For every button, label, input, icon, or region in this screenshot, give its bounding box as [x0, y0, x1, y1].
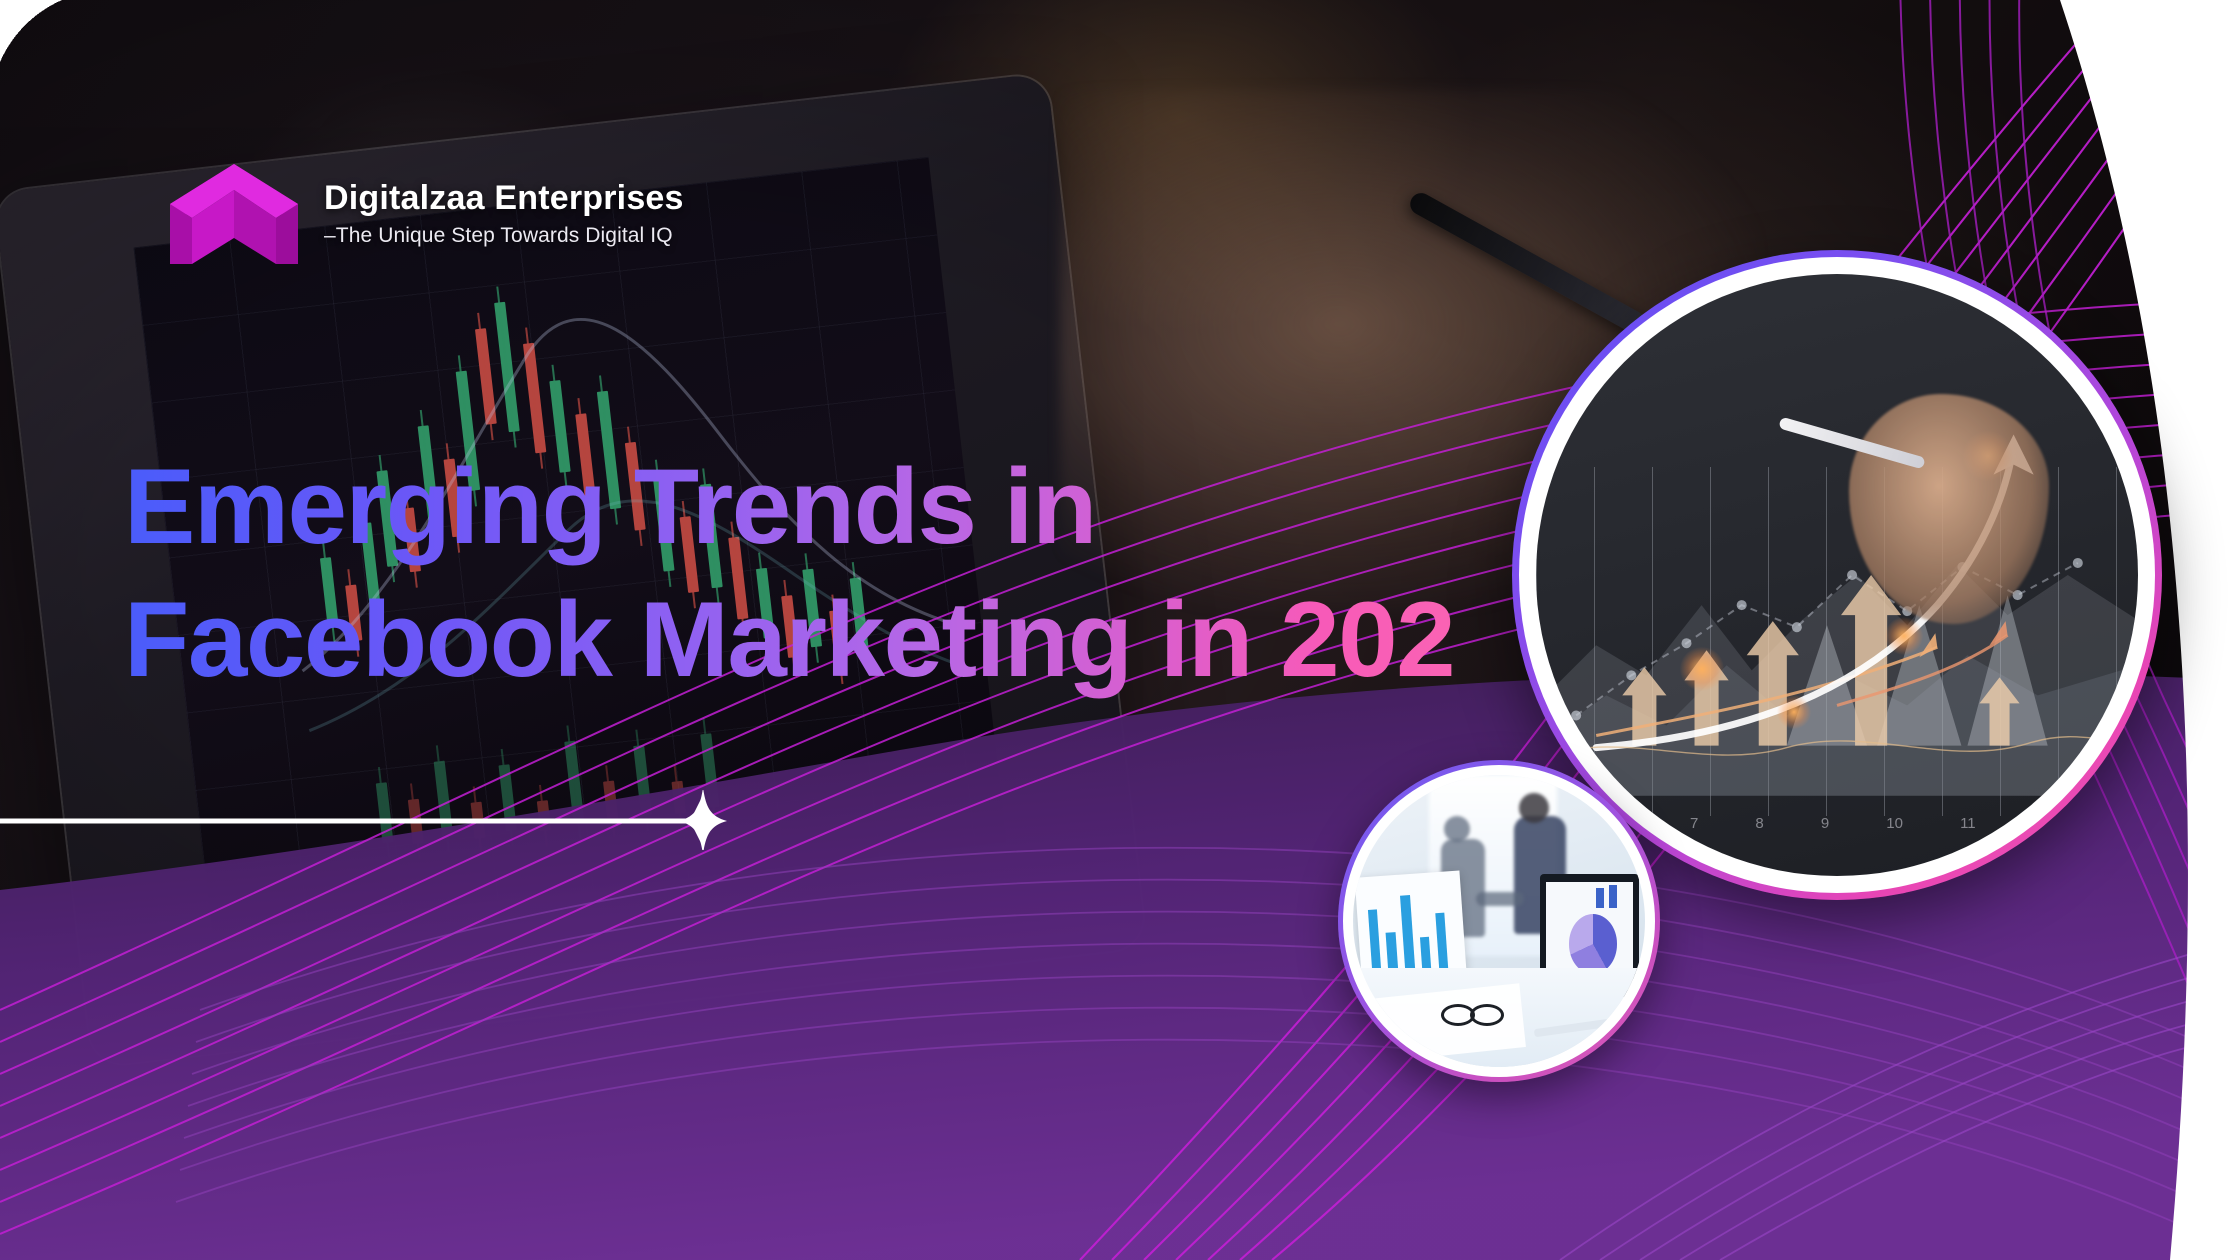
axis-tick: 8 — [1755, 815, 1763, 832]
headline-line-2: Facebook Marketing in 2026 — [124, 573, 1454, 706]
corner-mask-top-left — [0, 0, 110, 110]
circle-image-small — [1338, 760, 1660, 1082]
glow-dot — [1777, 695, 1811, 729]
analytics-growth-photo: 6 7 8 9 10 11 12 — [1536, 274, 2138, 876]
person-right-head — [1519, 793, 1549, 823]
axis-tick: 12 — [2033, 815, 2050, 832]
brand-name: Digitalzaa Enterprises — [324, 180, 684, 217]
brand-logo-block[interactable]: Digitalzaa Enterprises –The Unique Step … — [166, 160, 684, 268]
business-handshake-photo — [1353, 775, 1645, 1067]
brand-text: Digitalzaa Enterprises –The Unique Step … — [324, 180, 684, 247]
analytics-graphics — [1536, 274, 2138, 876]
person-left-head — [1444, 816, 1470, 842]
axis-tick: 9 — [1821, 815, 1829, 832]
axis-tick: 11 — [1960, 815, 1976, 832]
headline-line-1: Emerging Trends in — [124, 440, 1454, 573]
pie-chart — [1569, 914, 1618, 974]
page-title: Emerging Trends in Facebook Marketing in… — [124, 440, 1454, 705]
brand-tagline: –The Unique Step Towards Digital IQ — [324, 224, 684, 248]
chevron-3d-icon — [166, 160, 302, 268]
circle-image-large: 6 7 8 9 10 11 12 — [1512, 250, 2162, 900]
marketing-banner: Digitalzaa Enterprises –The Unique Step … — [0, 0, 2240, 1260]
divider-with-sparkle — [0, 790, 740, 850]
circle-small-white-ring — [1343, 765, 1655, 1077]
axis-tick: 10 — [1886, 815, 1903, 832]
circle-large-white-ring: 6 7 8 9 10 11 12 — [1519, 257, 2155, 893]
glasses-icon — [1470, 1004, 1504, 1026]
handshake — [1476, 892, 1524, 906]
axis-tick: 7 — [1690, 815, 1698, 832]
